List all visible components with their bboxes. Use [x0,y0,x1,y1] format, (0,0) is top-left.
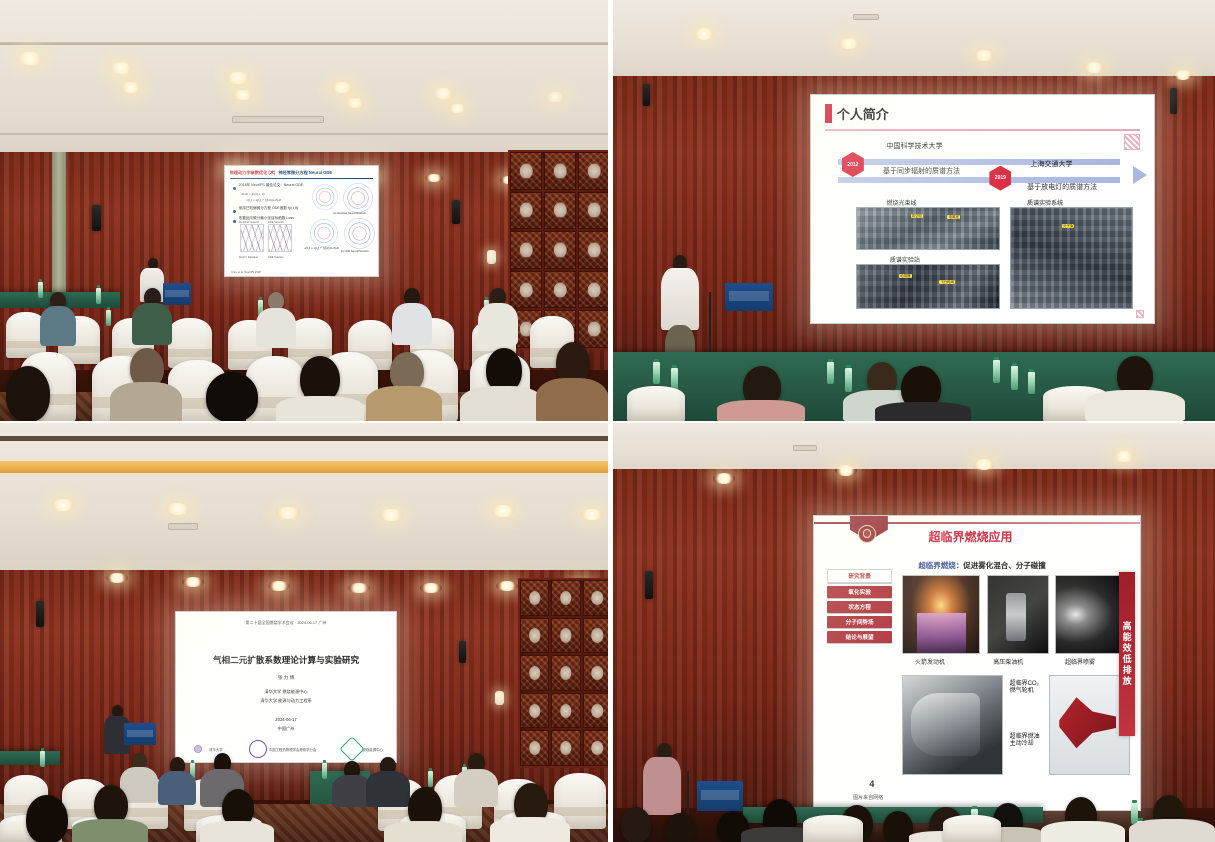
attendee-body [366,771,410,807]
ceiling-light [225,72,251,84]
ceiling-light [580,509,604,520]
diagram-label: Depth / Residual [239,256,258,259]
lectern [163,283,191,305]
slide-section-nav: 研究背景 氧化实验 状态方程 分子间势场 结论与展望 [827,569,892,643]
attendee-body [110,382,182,421]
projection-screen: 物理动力学参数优化 (术) 神经常微分方程 Neural ODE 2018年 N… [224,165,379,277]
ceiling-light [232,90,254,100]
nav-item-3[interactable]: 分子间势场 [827,616,892,628]
image-gas-turbine [902,675,1003,775]
image-diesel-engine [987,575,1049,654]
slide-footer: Chen et al. NeurIPS 2018 [231,271,261,274]
water-bottle [827,362,834,384]
ceiling-light [378,509,404,521]
slide-personal-profile: 个人简介 2012 2019 中国科学技术大学 基于同步辐射的质谱方法 上海交通… [811,95,1154,323]
water-bottle [653,362,660,384]
ceiling-light [120,82,142,93]
timeline-node: 2019 [989,166,1011,191]
presenter-body [643,757,681,815]
slide-heading: 超临界燃烧应用 [928,528,1012,545]
attendee-body [717,400,805,421]
logo-item: 燃烧能源中心 [343,740,383,758]
projection-screen: 个人简介 2012 2019 中国科学技术大学 基于同步辐射的质谱方法 上海交通… [810,94,1155,324]
ceiling-light [693,28,715,40]
formula: dz/dt = f(z(t), t, θ) [242,192,316,196]
slide-divider [230,178,374,179]
image-caption: 高压柴油机 [993,657,1023,666]
ceiling-light [838,38,860,49]
slide-header: 第二十届全国燃烧学术会议 · 2024.06.17 广州 [176,620,396,626]
attendee-body [1129,819,1215,842]
ceiling-light [106,573,128,583]
photo-tag: 飞行时间 [939,280,955,284]
mic-stand [709,292,711,360]
ceiling-light [50,499,76,511]
timeline-node: 2012 [842,152,864,177]
air-vent [232,116,324,123]
water-bottle [106,310,111,326]
attendee-body [40,306,76,346]
slide-title: 气相二元扩散系数理论计算与实验研究 [176,654,396,666]
attendee-body [478,303,518,345]
ceiling-light [425,174,443,182]
air-vent [853,14,879,20]
attendee-body [1085,390,1185,421]
chair [803,815,863,842]
loudspeaker [643,84,650,106]
slide-credit: 图片来自网络 [853,794,883,801]
nav-item-4[interactable]: 结论与展望 [827,631,892,643]
ceiling-light [275,507,301,519]
mic-stand [687,771,689,815]
formula: z(t₁) = z(t₀) + ∫ f(z(t),t,θ) dt [305,246,339,250]
ceiling-edge [0,42,608,45]
attendee-head [621,807,651,842]
slide-heading: 个人简介 [837,104,889,123]
slide-author: 张 力 博 [176,675,396,681]
water-bottle [322,763,327,779]
attendee-body [158,771,196,805]
ceiling-light [496,581,518,591]
nav-item-1[interactable]: 氧化实验 [827,586,892,598]
projection-screen: 超临界燃烧应用 超临界燃烧：促进雾化混合、分子碰撞 研究背景 氧化实验 状态方程… [813,515,1141,811]
ceiling-light [330,82,354,93]
timeline-institution: 中国科学技术大学 [886,141,942,151]
photo-tag: 分子束 [1062,224,1075,228]
nav-item-2[interactable]: 状态方程 [827,601,892,613]
attendee-body [1041,821,1125,842]
ceiling-light [448,104,467,113]
loudspeaker [645,571,653,599]
ceiling-light [1083,62,1105,73]
panel-top-right: 个人简介 2012 2019 中国科学技术大学 基于同步辐射的质谱方法 上海交通… [608,0,1215,421]
lab-photo: 检测器 飞行时间 [856,264,1000,310]
projection-screen: 第二十届全国燃烧学术会议 · 2024.06.17 广州 气相二元扩散系数理论计… [175,611,397,763]
attendee-body [132,303,172,345]
slide-affiliation: 清华大学 能源与动力工程系 [176,698,396,704]
air-vent [793,445,817,451]
attendee-body [460,386,544,421]
water-bottle [96,288,101,304]
panel-bottom-left: 第二十届全国燃烧学术会议 · 2024.06.17 广州 气相二元扩散系数理论计… [0,421,608,842]
heading-marker [825,104,832,123]
ode-network-diagram [268,224,292,252]
photo-tag: 真空腔 [911,214,924,218]
residual-network-diagram [240,224,264,252]
slide-subheading: 超临界燃烧：促进雾化混合、分子碰撞 [918,560,1046,571]
photo-grid: 物理动力学参数优化 (术) 神经常微分方程 Neural ODE 2018年 N… [0,0,1215,842]
bullet-item: 使用已知偏微分方程 ODE函数 f(x,t,θ) [233,206,316,213]
image-caption: 超临界喷雾 [1065,657,1095,666]
ceiling-light [490,505,516,517]
photo-tag: 电离室 [947,215,960,219]
photo-caption: 质谱实验系统 [1027,198,1063,207]
chair [627,386,685,421]
air-vent [168,523,198,530]
ceiling-light [1173,70,1193,80]
lattice-wall-panel [518,578,608,768]
image-aircraft [1049,675,1131,775]
spiral-plot [343,183,373,213]
slide-affiliation: 清华大学 燃烧能源中心 [176,689,396,695]
ceiling-light [973,50,995,61]
loudspeaker [452,200,460,224]
spiral-plot [310,219,338,247]
lab-photo: 分子束 [1010,207,1133,310]
attendee-body [200,821,274,842]
figure-caption: (b) ODE Neural Network [341,250,369,253]
cove-light-strip [0,461,608,473]
slide-neural-ode: 物理动力学参数优化 (术) 神经常微分方程 Neural ODE 2018年 N… [225,166,378,276]
ceiling-light [1113,451,1135,462]
image-rocket-engine [902,575,980,654]
attendee-body [392,303,432,345]
slide-supercritical: 超临界燃烧应用 超临界燃烧：促进雾化混合、分子碰撞 研究背景 氧化实验 状态方程… [814,516,1140,810]
attendee-head [206,372,258,421]
water-bottle [40,751,45,767]
slide-footer-logo [1136,310,1144,318]
photo-caption: 质谱实验站 [890,255,920,264]
panel-bottom-right: 超临界燃烧应用 超临界燃烧：促进雾化混合、分子碰撞 研究背景 氧化实验 状态方程… [608,421,1215,842]
ceiling-soffit [0,436,608,441]
panel-top-left: 物理动力学参数优化 (术) 神经常微分方程 Neural ODE 2018年 N… [0,0,608,421]
image-supercritical-spray [1055,575,1127,654]
university-seal-icon [858,525,876,543]
figure-caption: (a) Residual Neural Network [333,212,366,215]
attendee-body [256,308,296,348]
presenter-body [661,268,699,330]
lectern [697,781,743,811]
loudspeaker [36,601,44,627]
ceiling-edge-2 [0,133,608,135]
lectern [124,723,156,745]
ceiling-light [348,583,370,593]
water-bottle [38,282,43,298]
water-bottle [845,368,852,392]
ceiling-light [108,62,134,74]
heading-underline [825,129,1141,131]
ceiling-light [268,581,290,591]
ceiling-light [973,459,995,470]
timeline-institution: 上海交通大学 [1031,159,1073,169]
timeline-arrow [1133,166,1147,184]
logo-item: 中国工程热物理学会燃烧学分会 [249,740,316,758]
wall-lamp [487,250,496,264]
side-table [0,751,60,765]
attendee-head [6,366,50,421]
slide-title-red: 物理动力学参数优化 (术) [230,170,276,175]
ceiling-light [345,98,365,108]
attendee-head [665,813,695,842]
institution-logo [1124,134,1140,150]
ceiling-light [165,503,191,515]
ceiling-light [420,583,442,593]
timeline-track [838,159,1119,165]
water-bottle [1028,372,1035,394]
diagram-label: ODE Solution [268,256,284,259]
slide-location: 中国广州 [176,726,396,732]
spiral-plot [344,218,375,249]
diagram-label: Residual Network [239,221,259,224]
ceiling-light [835,465,857,476]
slide-title: 第二十届全国燃烧学术会议 · 2024.06.17 广州 气相二元扩散系数理论计… [176,612,396,762]
attendee-body [454,769,498,807]
ceiling [0,423,608,591]
attendee-body [384,821,462,842]
ceiling-light [544,92,566,102]
timeline-topic: 基于放电灯的质谱方法 [1027,182,1097,192]
timeline-topic: 基于同步辐射的质谱方法 [883,166,960,176]
image-caption: 火箭发动机 [915,657,945,666]
slide-page-number: 4 [869,779,874,789]
attendee-head [26,795,68,842]
water-bottle [993,360,1000,383]
formula: z(t₁) = z(t₀) + ∫ f(z(t),t,θ) dt [247,198,316,202]
ceiling-light [432,88,454,99]
water-bottle [1011,366,1018,390]
ceiling-light [16,52,44,65]
attendee-body [536,378,608,421]
ceiling-light [182,577,204,587]
wall-lamp [495,691,504,705]
photo-caption: 燃烧光束线 [886,198,916,207]
attendee-body [366,386,442,421]
spiral-plot [312,184,338,210]
chair [943,815,1001,842]
attendee-body [490,817,570,842]
slide-date: 2024-06-17 [176,717,396,722]
diagram-label: ODE Network [268,221,284,224]
side-banner: 高能效低排放 [1119,572,1135,737]
bullet-item: 2018年 NeurIPS 最佳论文：Neural ODE [233,183,316,190]
attendee-body [875,402,971,421]
water-bottle [428,771,433,787]
photo-tag: 检测器 [899,274,912,278]
nav-item-0[interactable]: 研究背景 [827,569,892,583]
lectern [725,283,773,311]
attendee-body [72,819,148,842]
ceiling-light [713,473,735,484]
annotation-co2-turbine: 超临界CO₂燃气轮机 [1010,681,1043,696]
lab-photo: 真空腔 电离室 [856,207,1000,250]
loudspeaker [1170,88,1177,114]
slide-title-blue: 神经常微分方程 Neural ODE [278,170,332,175]
attendee-body [276,396,364,421]
loudspeaker [92,205,101,231]
loudspeaker [459,641,466,663]
annotation-fuel-cooling: 超临界燃油主动冷却 [1010,734,1043,749]
